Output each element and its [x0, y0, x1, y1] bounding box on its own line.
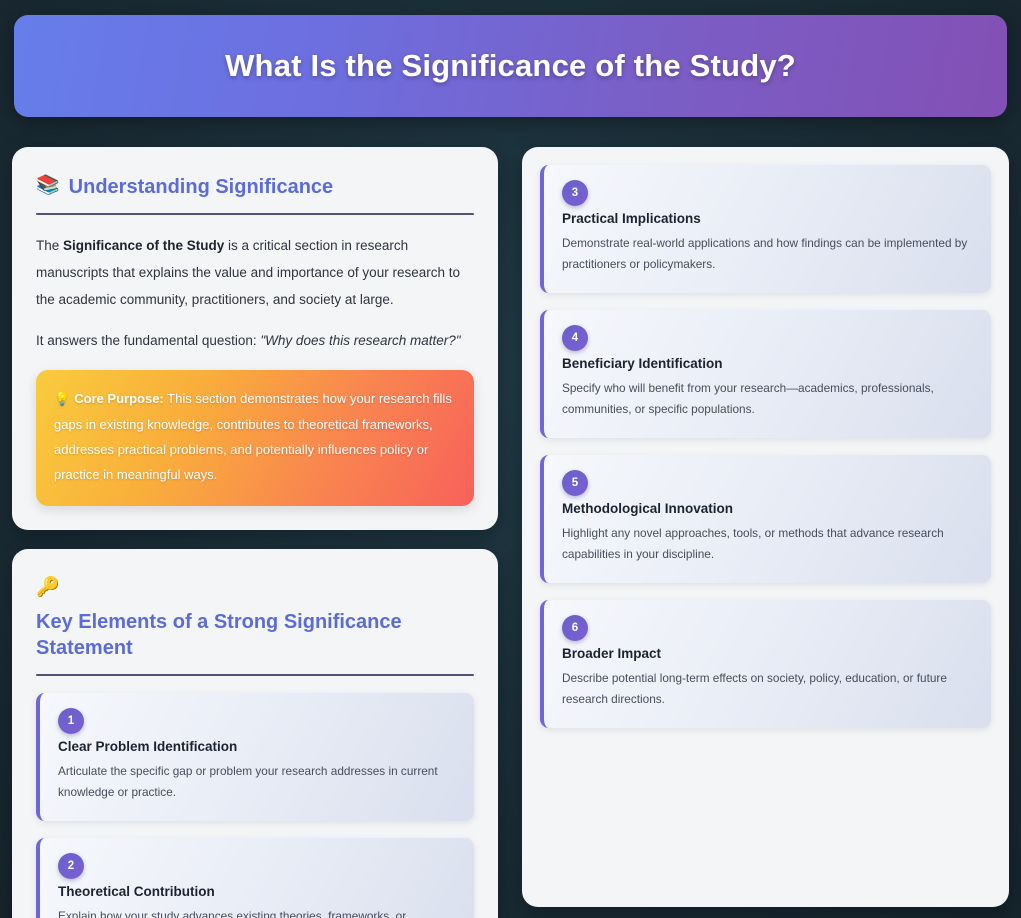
paragraph-1-lead: The — [36, 238, 63, 253]
lightbulb-icon: 💡 — [54, 391, 70, 406]
element-title: Theoretical Contribution — [58, 884, 456, 899]
paragraph-1-bold: Significance of the Study — [63, 238, 224, 253]
understanding-paragraph-2: It answers the fundamental question: "Wh… — [36, 327, 474, 354]
paragraph-2-quote: "Why does this research matter?" — [260, 333, 460, 348]
element-title: Practical Implications — [562, 211, 973, 226]
element-description: Articulate the specific gap or problem y… — [58, 761, 456, 803]
key-elements-heading: 🔑 Key Elements of a Strong Significance … — [36, 576, 474, 662]
page-title: What Is the Significance of the Study? — [225, 48, 796, 84]
key-elements-list-right: 3 Practical Implications Demonstrate rea… — [540, 165, 991, 728]
element-title: Broader Impact — [562, 646, 973, 661]
element-number-badge: 5 — [562, 470, 588, 496]
heading-divider — [36, 213, 474, 215]
element-number-badge: 3 — [562, 180, 588, 206]
understanding-title: Understanding Significance — [69, 174, 474, 200]
element-card[interactable]: 2 Theoretical Contribution Explain how y… — [36, 838, 474, 918]
key-elements-panel: 🔑 Key Elements of a Strong Significance … — [12, 549, 498, 918]
element-description: Highlight any novel approaches, tools, o… — [562, 523, 973, 565]
element-description: Explain how your study advances existing… — [58, 906, 456, 918]
element-description: Specify who will benefit from your resea… — [562, 378, 973, 420]
element-description: Describe potential long-term effects on … — [562, 668, 973, 710]
key-elements-list-left: 1 Clear Problem Identification Articulat… — [36, 693, 474, 918]
understanding-significance-panel: 📚 Understanding Significance The Signifi… — [12, 147, 498, 530]
books-icon: 📚 — [36, 174, 60, 198]
core-purpose-label: Core Purpose: — [74, 391, 164, 406]
element-title: Beneficiary Identification — [562, 356, 973, 371]
key-icon: 🔑 — [36, 576, 60, 600]
heading-divider — [36, 674, 474, 676]
element-card[interactable]: 4 Beneficiary Identification Specify who… — [540, 310, 991, 438]
key-elements-title: Key Elements of a Strong Significance St… — [36, 609, 474, 662]
element-number-badge: 2 — [58, 853, 84, 879]
element-card[interactable]: 5 Methodological Innovation Highlight an… — [540, 455, 991, 583]
element-title: Methodological Innovation — [562, 501, 973, 516]
element-card[interactable]: 1 Clear Problem Identification Articulat… — [36, 693, 474, 821]
left-column: 📚 Understanding Significance The Signifi… — [12, 147, 498, 918]
page-header-banner: What Is the Significance of the Study? — [14, 15, 1007, 117]
key-elements-continued-panel: 3 Practical Implications Demonstrate rea… — [522, 147, 1009, 907]
paragraph-2-lead: It answers the fundamental question: — [36, 333, 260, 348]
element-number-badge: 4 — [562, 325, 588, 351]
element-number-badge: 1 — [58, 708, 84, 734]
right-column: 3 Practical Implications Demonstrate rea… — [522, 147, 1009, 907]
element-card[interactable]: 6 Broader Impact Describe potential long… — [540, 600, 991, 728]
understanding-paragraph-1: The Significance of the Study is a criti… — [36, 232, 474, 313]
element-number-badge: 6 — [562, 615, 588, 641]
element-description: Demonstrate real-world applications and … — [562, 233, 973, 275]
understanding-heading: 📚 Understanding Significance — [36, 174, 474, 200]
element-card[interactable]: 3 Practical Implications Demonstrate rea… — [540, 165, 991, 293]
core-purpose-callout: 💡Core Purpose: This section demonstrates… — [36, 370, 474, 505]
content-columns: 📚 Understanding Significance The Signifi… — [12, 147, 1009, 918]
element-title: Clear Problem Identification — [58, 739, 456, 754]
